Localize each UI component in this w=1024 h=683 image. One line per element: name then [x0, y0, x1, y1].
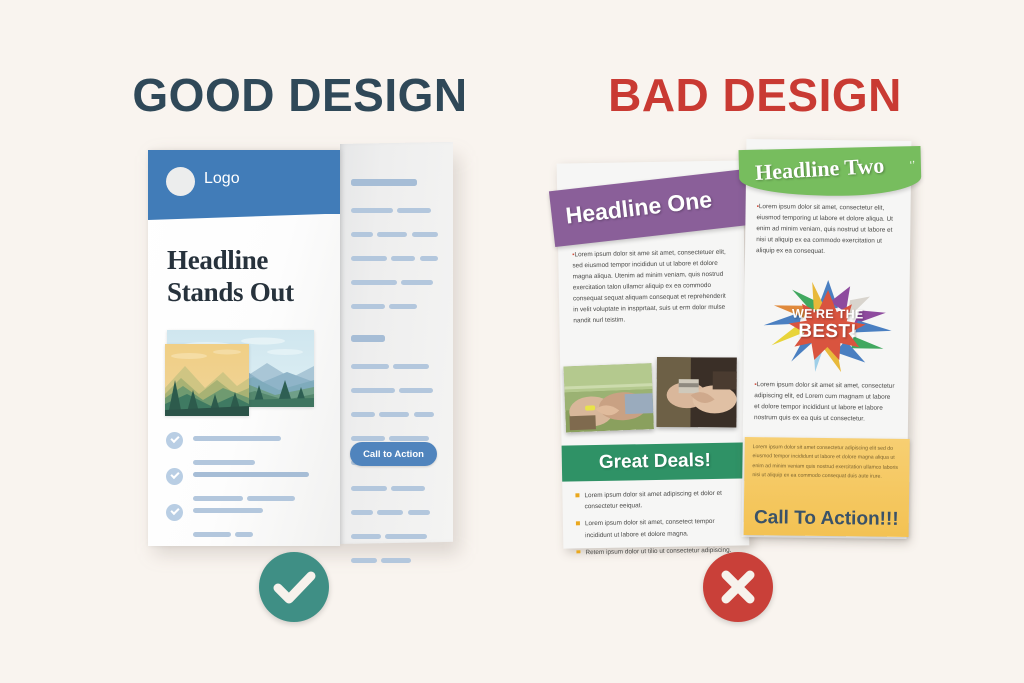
bad-design-brochure: Headline One ▪Lorem ipsum dolor sit ame …: [560, 140, 920, 555]
headline-one-label: Headline One: [564, 186, 713, 229]
good-design-brochure: Logo Headline Stands Out: [148, 150, 453, 550]
bad-panel-left: Headline One ▪Lorem ipsum dolor sit ame …: [557, 160, 750, 548]
call-to-action-button[interactable]: Call to Action: [350, 442, 437, 466]
check-icon: [166, 468, 183, 485]
checklist-item: [166, 466, 326, 502]
headline-two-banner: Headline Two ‘’: [739, 146, 922, 198]
headline-two-label: Headline Two: [754, 153, 885, 186]
bad-design-title: BAD DESIGN: [545, 68, 965, 122]
logo-label: Logo: [204, 170, 240, 188]
bad-panel-right: Headline Two ‘’ ▪Lorem ipsum dolor sit a…: [742, 139, 912, 539]
bad-verdict-x-icon: [703, 552, 773, 622]
brochure-side-image: [165, 344, 249, 416]
headline-one-banner: Headline One: [549, 169, 752, 247]
handshake-photos: [564, 356, 743, 431]
comparison-graphic: GOOD DESIGN BAD DESIGN Logo Headline Sta…: [0, 0, 1024, 683]
great-deals-label: Great Deals!: [599, 450, 711, 474]
yellow-block-text: Lorem ipsum dolor sit amet consectetur a…: [752, 443, 902, 482]
good-verdict-check-icon: [259, 552, 329, 622]
brochure-checklist: [166, 430, 326, 538]
deals-list-item: Lorem ipsum dolor sit amet adipiscing et…: [575, 488, 735, 513]
starburst-text: WE'RE THE BEST!: [756, 307, 899, 341]
great-deals-banner: Great Deals!: [562, 442, 749, 481]
checklist-item: [166, 430, 326, 466]
deals-list-item: Lorem ipsum dolor sit amet, consetect te…: [576, 516, 736, 541]
yellow-cta-block: Lorem ipsum dolor sit amet consectetur a…: [744, 437, 910, 537]
logo-mark-icon: [166, 167, 195, 196]
fold-text-block-bottom: [351, 480, 447, 576]
brochure-headline: Headline Stands Out: [167, 245, 332, 308]
checklist-item: [166, 502, 326, 538]
bad-call-to-action-label[interactable]: Call To Action!!!: [744, 507, 909, 531]
quote-mark-icon: ‘’: [909, 158, 915, 172]
bad-right-body-top: ▪Lorem ipsum dolor sit amet, consectetur…: [756, 201, 900, 258]
good-design-title: GOOD DESIGN: [60, 68, 540, 122]
starburst-icon: WE'RE THE BEST!: [756, 279, 900, 373]
bad-left-body-text: ▪Lorem ipsum dolor sit ame sit amet, con…: [572, 247, 731, 327]
starburst-line1: WE'RE THE: [792, 307, 864, 322]
starburst-line2: BEST!: [756, 321, 899, 342]
check-icon: [166, 432, 183, 449]
fold-text-block-top: [351, 174, 447, 478]
handshake-photo-indoor: [656, 357, 736, 428]
bad-right-body-bottom: ▪Lorem ipsum dolor sit amet sit amet, co…: [754, 379, 898, 425]
check-icon: [166, 504, 183, 521]
handshake-photo-outdoor: [564, 363, 654, 432]
